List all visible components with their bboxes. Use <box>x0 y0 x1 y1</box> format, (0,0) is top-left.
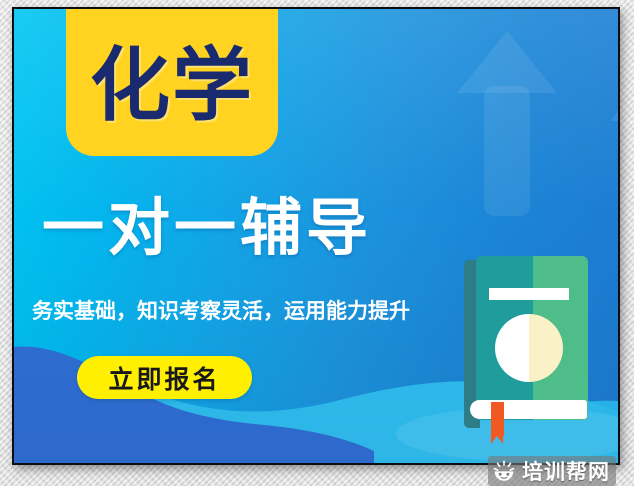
up-arrow-shaft <box>484 86 530 216</box>
enroll-now-button[interactable]: 立即报名 <box>77 356 252 399</box>
book-page-edge <box>470 400 587 419</box>
book-icon <box>464 252 596 442</box>
subject-chip: 化学 <box>66 9 278 156</box>
banner-subheadline: 务实基础，知识考察灵活，运用能力提升 <box>32 299 410 324</box>
sun-face-logo-icon <box>492 459 516 483</box>
subject-chip-label: 化学 <box>90 46 254 126</box>
page-canvas: 化学 一对一辅导 务实基础，知识考察灵活，运用能力提升 立即报名 <box>0 0 634 486</box>
watermark-text: 培训帮网 <box>522 456 610 486</box>
book-title-bar <box>489 288 569 300</box>
up-arrow-secondary-icon <box>606 69 620 229</box>
up-arrow-icon <box>452 31 562 211</box>
enroll-now-label: 立即报名 <box>108 360 220 396</box>
up-arrow-head <box>610 69 620 121</box>
watermark-badge: 培训帮网 <box>488 456 616 486</box>
up-arrow-head <box>457 31 557 93</box>
promo-banner[interactable]: 化学 一对一辅导 务实基础，知识考察灵活，运用能力提升 立即报名 <box>12 7 620 465</box>
book-bookmark-ribbon <box>491 402 504 436</box>
banner-headline: 一对一辅导 <box>42 195 372 260</box>
